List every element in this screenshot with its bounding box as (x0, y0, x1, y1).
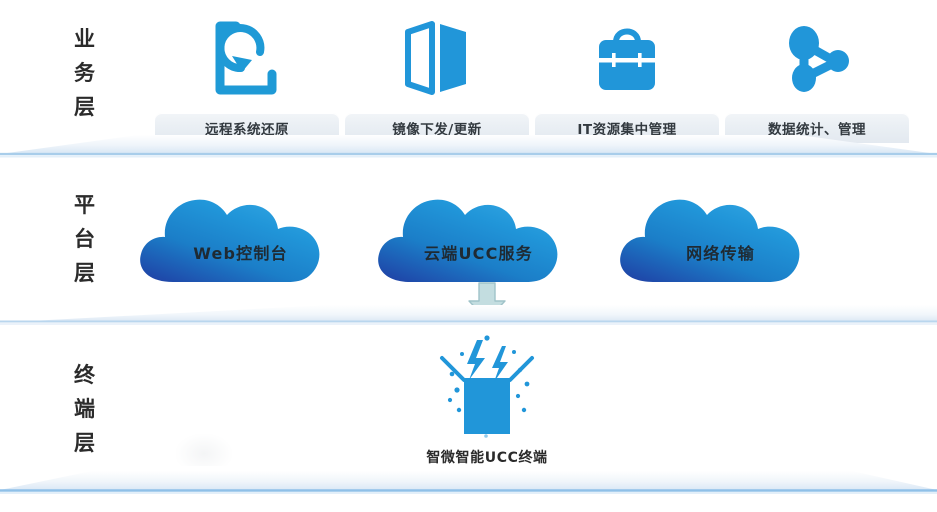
layer-label-platform: 平 台 层 (62, 188, 108, 290)
layer-label-char: 层 (62, 90, 108, 124)
faint-watermark-artifact (176, 434, 232, 466)
layer-label-char: 平 (62, 188, 108, 222)
restore-system-icon (210, 16, 284, 100)
platform-cloud-web-console[interactable]: Web控制台 (133, 182, 348, 294)
layer-label-char: 务 (62, 56, 108, 90)
business-icon-cell-it-resource[interactable] (532, 8, 722, 108)
layer-label-char: 台 (62, 222, 108, 256)
share-nodes-icon (780, 16, 854, 100)
layer-label-char: 层 (62, 426, 108, 460)
layer-divider-terminal (0, 469, 937, 495)
platform-cloud-label: 网络传输 (613, 240, 828, 264)
platform-cloud-ucc-service[interactable]: 云端UCC服务 (371, 182, 586, 294)
layer-divider-platform (0, 305, 937, 327)
layer-label-char: 业 (62, 22, 108, 56)
business-icon-cell-restore[interactable] (152, 8, 342, 108)
ucc-terminal-box-icon[interactable] (428, 334, 546, 447)
business-icon-cell-data-stats[interactable] (722, 8, 912, 108)
terminal-device-label: 智微智能UCC终端 (337, 447, 637, 467)
layer-divider-business (0, 135, 937, 161)
platform-cloud-label: 云端UCC服务 (371, 240, 586, 264)
layer-label-char: 终 (62, 358, 108, 392)
platform-cloud-label: Web控制台 (133, 240, 348, 264)
architecture-diagram: 业 务 层 (0, 0, 937, 512)
layer-label-char: 端 (62, 392, 108, 426)
briefcase-icon (590, 16, 664, 100)
platform-cloud-network[interactable]: 网络传输 (613, 182, 828, 294)
layer-label-terminal: 终 端 层 (62, 358, 108, 460)
image-deploy-icon (402, 16, 472, 100)
layer-label-business: 业 务 层 (62, 22, 108, 124)
business-icon-cell-image-deploy[interactable] (342, 8, 532, 108)
layer-label-char: 层 (62, 256, 108, 290)
